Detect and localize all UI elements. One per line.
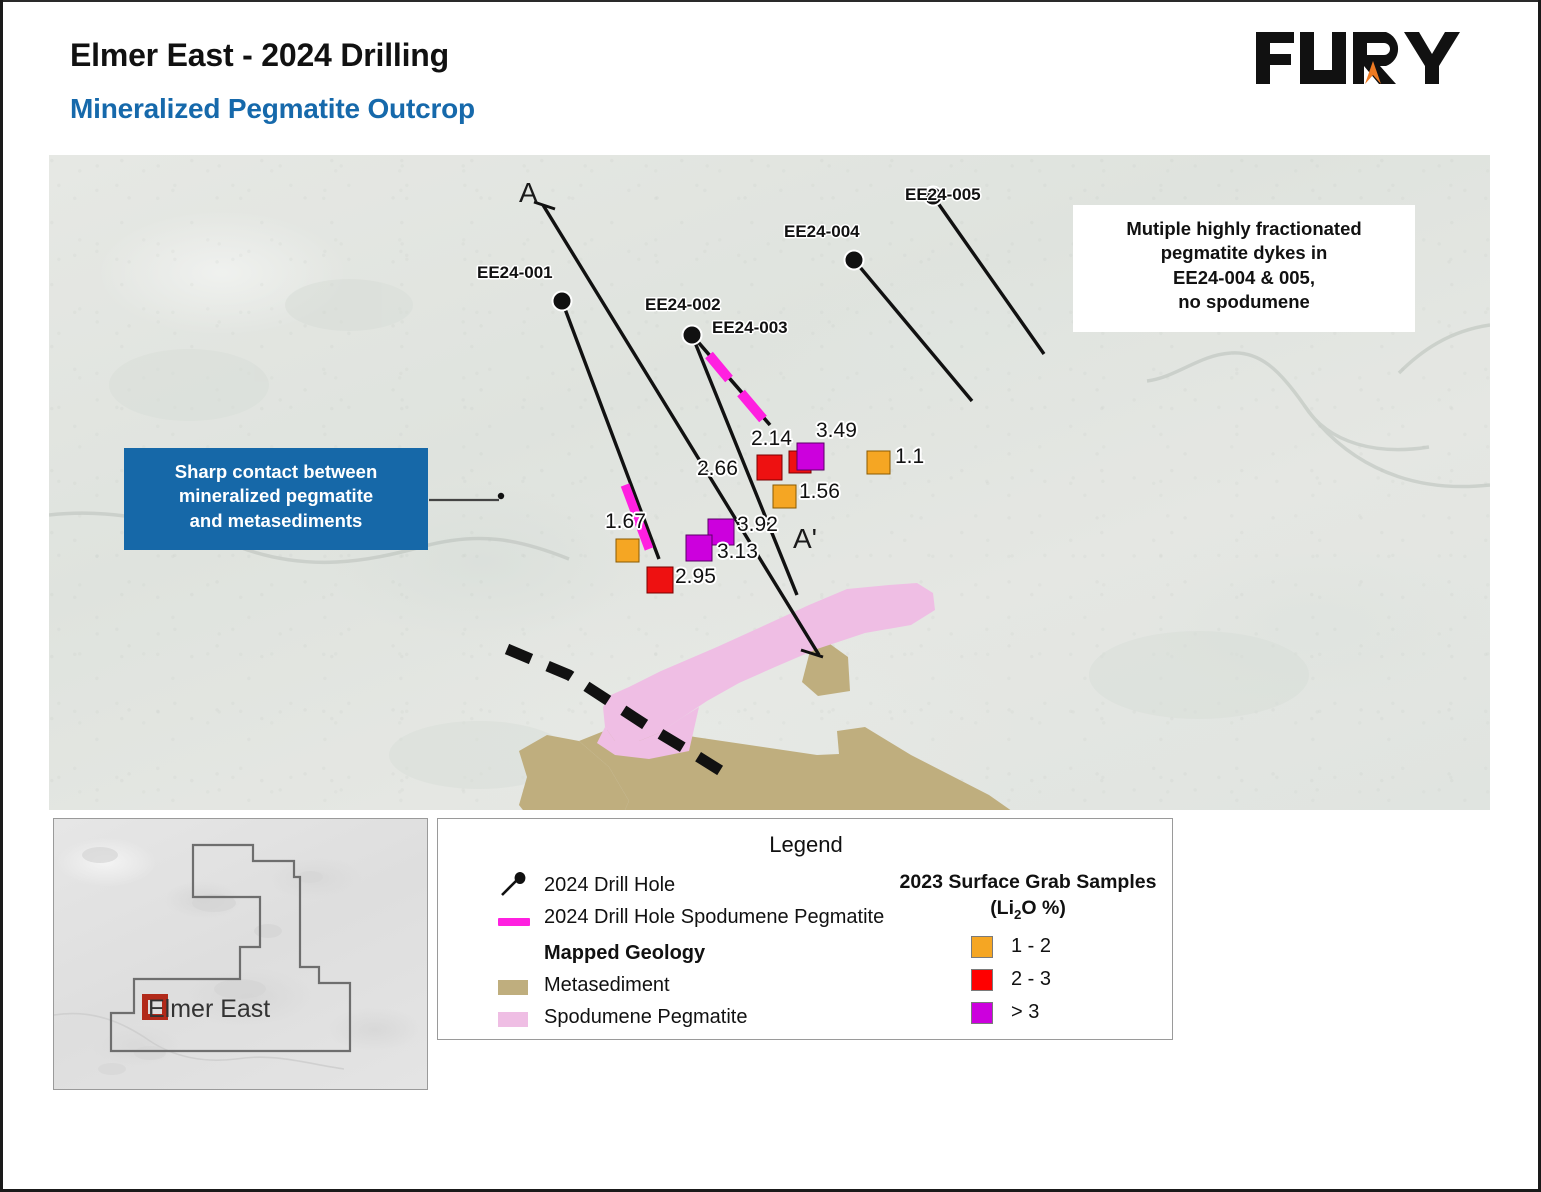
drill-hole-label-EE24-004: EE24-004 [784, 222, 860, 242]
grab-class-label: 1 - 2 [1011, 935, 1051, 958]
pegmatite-interval-1 [709, 355, 729, 379]
pegmatite-interval-2 [741, 393, 763, 419]
grab-label-2.66: 2.66 [697, 457, 738, 481]
drill-hole-label-EE24-005: EE24-005 [905, 185, 981, 205]
grab-label-1.1: 1.1 [895, 445, 924, 469]
grab-marker-3.49 [797, 443, 824, 470]
spodumene-pegmatite-swatch [498, 1012, 528, 1032]
contact-note-leader [429, 493, 504, 500]
drill-hole-trace-EE24-003 [692, 335, 770, 425]
grab-class-label: > 3 [1011, 1001, 1039, 1024]
frame-border-left [0, 0, 3, 1192]
legend-item-drill-hole: 2024 Drill Hole [466, 873, 886, 905]
grab-marker-3.13 [686, 535, 712, 561]
grab-label-3.13: 3.13 [717, 540, 758, 564]
grab-marker-1.1 [867, 451, 890, 474]
figure-header: Elmer East - 2024 Drilling Mineralized P… [0, 0, 1541, 150]
geology-spodumene-pegmatite [597, 583, 935, 759]
grab-samples-title-line2: (Li2O %) [893, 895, 1163, 924]
section-label-A-prime: A' [793, 523, 817, 555]
grab-label-3.49: 3.49 [816, 419, 857, 443]
drill-hole-trace-EE24-005 [924, 187, 1045, 355]
legend-item-label: 2024 Drill Hole [544, 874, 675, 897]
grab-swatch-gt-3 [971, 1002, 993, 1024]
legend-left-column: 2024 Drill Hole 2024 Drill Hole Spodumen… [466, 873, 886, 1037]
legend-item-label: Spodumene Pegmatite [544, 1006, 747, 1029]
grab-title-pre: (Li [990, 897, 1014, 919]
legend-item-metasediment: Metasediment [466, 973, 886, 1005]
metasediment-swatch [498, 980, 528, 1000]
drill-collar-EE24-001 [553, 292, 572, 311]
annotation-contact-note: Sharp contact between mineralized pegmat… [124, 448, 428, 550]
annotation-line: and metasediments [124, 509, 428, 533]
annotation-line: Mutiple highly fractionated [1073, 217, 1415, 241]
legend-grab-class-2-3: 2 - 3 [893, 965, 1163, 998]
inset-area-label: Elmer East [148, 995, 270, 1024]
location-inset-map[interactable] [53, 818, 428, 1090]
legend-right-column: 2023 Surface Grab Samples (Li2O %) 1 - 2… [893, 869, 1163, 1031]
drill-hole-trace-EE24-004 [845, 251, 973, 402]
grab-samples-title: 2023 Surface Grab Samples (Li2O %) [893, 869, 1163, 924]
grab-marker-2.95 [647, 567, 673, 593]
drill-hole-label-EE24-001: EE24-001 [477, 263, 553, 283]
grab-marker-1.67 [616, 539, 639, 562]
grab-samples-title-line1: 2023 Surface Grab Samples [893, 869, 1163, 895]
legend-item-label: 2024 Drill Hole Spodumene Pegmatite [544, 906, 884, 929]
drill-hole-icon [498, 872, 528, 903]
annotation-line: Sharp contact between [124, 460, 428, 484]
grab-label-2.14: 2.14 [751, 427, 792, 451]
inset-lake-patches [82, 847, 323, 1075]
page-title: Elmer East - 2024 Drilling [70, 37, 449, 74]
magenta-line-icon [498, 914, 530, 932]
drill-collar-EE24-004 [845, 251, 864, 270]
grab-title-post: O %) [1021, 897, 1065, 919]
grab-swatch-2-3 [971, 969, 993, 991]
dykes-note-leader [1044, 332, 1073, 354]
drill-hole-label-EE24-003: EE24-003 [712, 318, 788, 338]
annotation-line: no spodumene [1073, 290, 1415, 314]
annotation-line: mineralized pegmatite [124, 484, 428, 508]
grab-marker-2.14 [757, 455, 782, 480]
grab-marker-1.56 [773, 485, 796, 508]
legend-group-label: Mapped Geology [544, 942, 705, 965]
grab-swatch-1-2 [971, 936, 993, 958]
grab-label-1.67: 1.67 [605, 510, 646, 534]
legend-group-mapped-geology: Mapped Geology [466, 937, 886, 973]
drill-hole-label-EE24-002: EE24-002 [645, 295, 721, 315]
inset-vector-overlay [54, 819, 428, 1090]
drill-collar-EE24-002-003 [683, 326, 702, 345]
grab-label-3.92: 3.92 [737, 513, 778, 537]
page-subtitle: Mineralized Pegmatite Outcrop [70, 93, 475, 125]
grab-label-2.95: 2.95 [675, 565, 716, 589]
annotation-dykes-note: Mutiple highly fractionated pegmatite dy… [1073, 205, 1415, 332]
legend-item-label: Metasediment [544, 974, 670, 997]
annotation-line: pegmatite dykes in [1073, 241, 1415, 265]
grab-class-label: 2 - 3 [1011, 968, 1051, 991]
legend-title: Legend [438, 832, 1174, 858]
fury-logo [1254, 28, 1474, 88]
annotation-line: EE24-004 & 005, [1073, 266, 1415, 290]
legend-panel: Legend 2024 Drill Hole 2024 Drill Hole S… [437, 818, 1173, 1040]
legend-item-drill-hole-pegmatite: 2024 Drill Hole Spodumene Pegmatite [466, 905, 886, 937]
legend-grab-class-1-2: 1 - 2 [893, 932, 1163, 965]
section-label-A: A [519, 177, 538, 209]
grab-label-1.56: 1.56 [799, 480, 840, 504]
legend-grab-class-gt-3: > 3 [893, 998, 1163, 1031]
legend-item-spodumene-pegmatite: Spodumene Pegmatite [466, 1005, 886, 1037]
